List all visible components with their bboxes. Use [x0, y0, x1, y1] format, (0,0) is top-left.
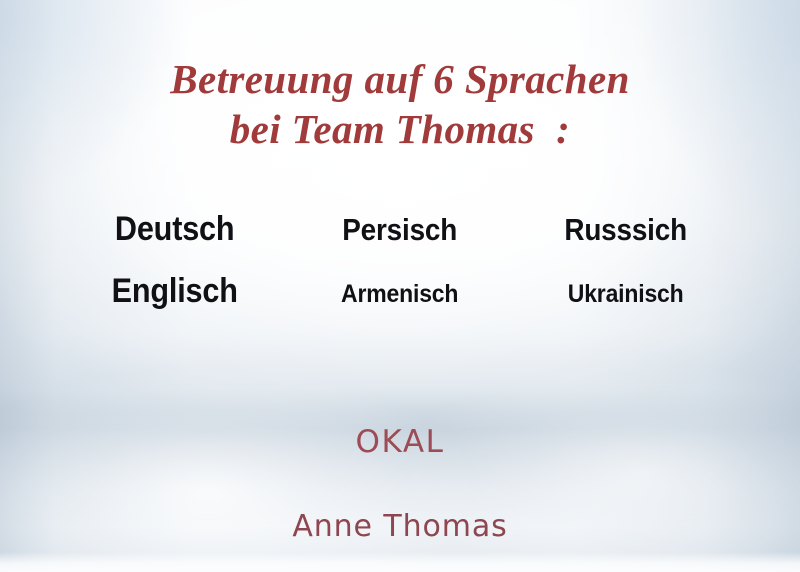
language-list: Deutsch Persisch Russsich Englisch Armen…: [62, 210, 738, 334]
language-row: Deutsch Persisch Russsich: [62, 210, 738, 272]
language-item-ukrainisch: Ukrainisch: [522, 280, 729, 309]
signature-name: Anne Thomas: [0, 509, 800, 544]
language-item-armenisch: Armenisch: [296, 280, 503, 309]
language-item-persisch: Persisch: [299, 212, 502, 248]
language-item-deutsch: Deutsch: [73, 210, 276, 249]
poster-heading: Betreuung auf 6 Sprachen bei Team Thomas…: [0, 54, 800, 154]
language-row: Englisch Armenisch Ukrainisch: [62, 272, 738, 334]
language-item-russsich: Russsich: [524, 212, 727, 248]
brand-name: OKAL: [0, 424, 800, 460]
language-item-englisch: Englisch: [73, 272, 276, 311]
poster-content: Betreuung auf 6 Sprachen bei Team Thomas…: [0, 0, 800, 572]
poster-image: Betreuung auf 6 Sprachen bei Team Thomas…: [0, 0, 800, 572]
heading-line-1: Betreuung auf 6 Sprachen: [0, 54, 800, 104]
heading-line-2: bei Team Thomas :: [0, 104, 800, 154]
